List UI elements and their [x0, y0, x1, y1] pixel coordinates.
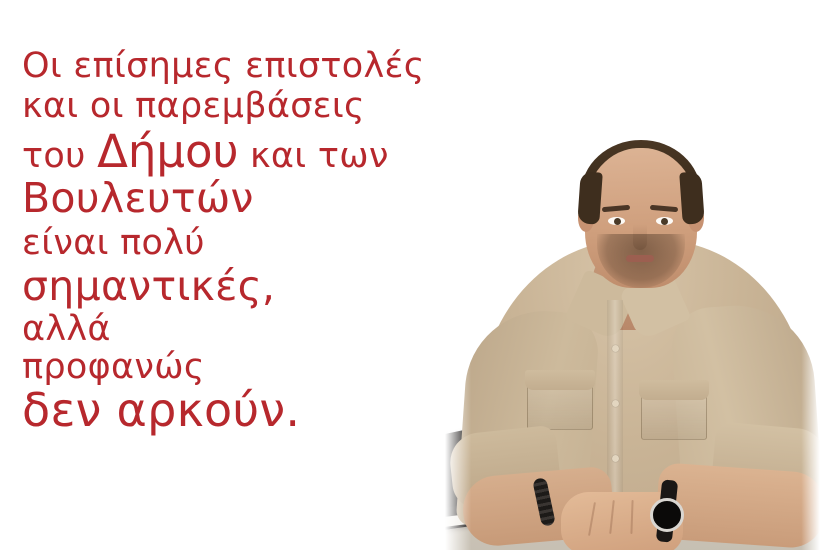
quote-emphasis-den-arkoun: δεν αρκούν. [22, 387, 472, 435]
quote-line-8: προφανώς [22, 349, 472, 385]
quote-line-3-suffix: και των [239, 136, 389, 176]
quote-card: Οι επίσημες επιστολές και οι παρεμβάσεις… [0, 0, 832, 550]
quote-emphasis-simantikes: σημαντικές, [22, 265, 472, 308]
hair-side-right [679, 171, 705, 224]
shirt-button [612, 400, 619, 407]
quote-line-2: και οι παρεμβάσεις [22, 88, 472, 124]
watch-face [650, 498, 684, 532]
pupil-right [661, 218, 668, 225]
quote-line-5: είναι πολύ [22, 225, 472, 261]
pupil-left [614, 218, 621, 225]
chest-pocket-left-flap [525, 370, 595, 390]
quote-emphasis-vouleyton: Βουλευτών [22, 177, 472, 220]
shirt-button [612, 345, 619, 352]
mouth [626, 255, 654, 262]
quote-line-3: του Δήμου και των [22, 129, 472, 176]
quote-text-block: Οι επίσημες επιστολές και οι παρεμβάσεις… [22, 48, 472, 435]
chest-pocket-right-flap [639, 380, 709, 400]
photo-scene [445, 100, 820, 550]
shirt-button [612, 455, 619, 462]
subject-photo [445, 100, 820, 550]
quote-line-1: Οι επίσημες επιστολές [22, 48, 472, 84]
quote-emphasis-dimos: Δήμου [97, 125, 239, 178]
hair-side-left [577, 171, 603, 224]
quote-line-3-prefix: του [22, 136, 97, 176]
quote-line-7: αλλά [22, 311, 472, 347]
